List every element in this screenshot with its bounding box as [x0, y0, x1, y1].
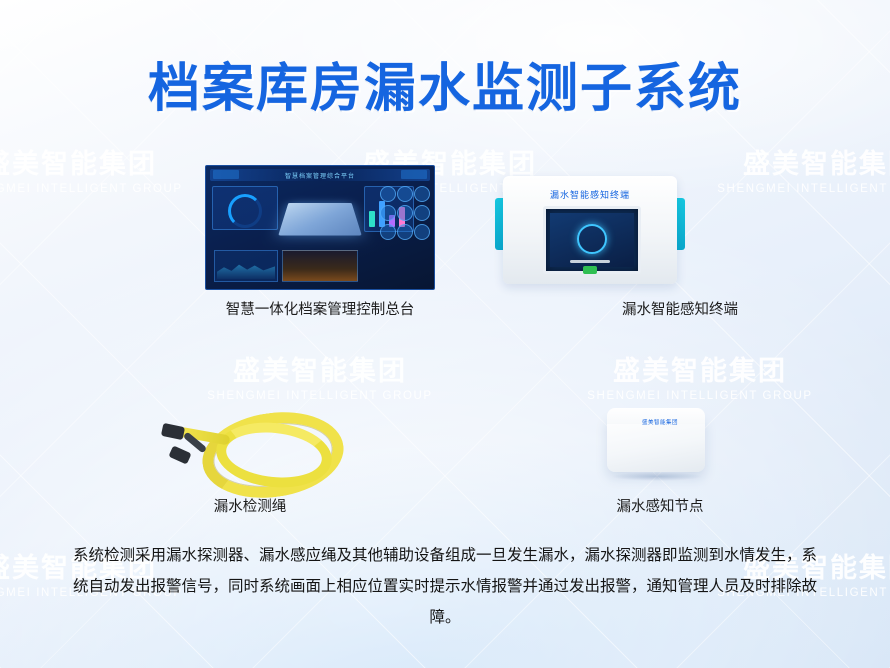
page-title: 档案库房漏水监测子系统	[0, 46, 890, 121]
watermark-cn: 盛美智能集团	[190, 355, 450, 389]
caption-cable: 漏水检测绳	[120, 495, 380, 516]
console-bar	[369, 211, 375, 227]
terminal-display-inner	[550, 213, 634, 267]
console-icon	[380, 186, 396, 202]
terminal-body: 漏水智能感知终端	[503, 176, 677, 284]
node-shadow	[611, 472, 703, 481]
cable-connector-bottom	[168, 445, 191, 464]
terminal-power-button	[583, 266, 597, 274]
console-camera-view	[282, 250, 358, 282]
cable-image	[160, 405, 340, 485]
terminal-status-ring-icon	[577, 224, 607, 254]
terminal-image: 漏水智能感知终端	[495, 162, 685, 292]
watermark-en: SHENGMEI INTELLIGENT GROUP	[700, 182, 890, 196]
console-trend-chart	[214, 250, 278, 282]
watermark-en: SHENGMEI INTELLIGENT GROUP	[0, 182, 200, 196]
console-icon	[397, 224, 413, 240]
console-icon	[414, 205, 430, 221]
caption-node: 漏水感知节点	[540, 495, 780, 516]
watermark: 盛美智能集团 SHENGMEI INTELLIGENT GROUP	[700, 148, 890, 196]
watermark: 盛美智能集团 SHENGMEI INTELLIGENT GROUP	[570, 355, 830, 403]
node-image: 盛美智能集团	[595, 398, 725, 488]
console-badge-left	[213, 170, 239, 179]
console-icon	[414, 186, 430, 202]
watermark: 盛美智能集团 SHENGMEI INTELLIGENT GROUP	[190, 355, 450, 403]
console-icon-grid	[380, 186, 428, 240]
console-icon	[397, 205, 413, 221]
console-topbar: 智慧档案管理综合平台	[210, 169, 430, 181]
watermark-en: SHENGMEI INTELLIGENT GROUP	[190, 389, 450, 403]
terminal-display	[543, 206, 641, 274]
watermark-cn: 盛美智能集团	[700, 148, 890, 182]
watermark-cn: 盛美智能集团	[0, 148, 200, 182]
cable-connector-top	[161, 423, 185, 440]
console-icon	[414, 224, 430, 240]
caption-terminal: 漏水智能感知终端	[430, 298, 890, 319]
node-logo-text: 盛美智能集团	[642, 418, 678, 426]
console-screen: 智慧档案管理综合平台	[205, 165, 435, 290]
watermark: 盛美智能集团 SHENGMEI INTELLIGENT GROUP	[0, 148, 200, 196]
console-image: 智慧档案管理综合平台	[205, 165, 435, 290]
console-3d-room	[278, 203, 362, 236]
terminal-device-label: 漏水智能感知终端	[503, 188, 677, 201]
console-icon	[380, 224, 396, 240]
console-badge-right	[401, 170, 427, 179]
description-text: 系统检测采用漏水探测器、漏水感应绳及其他辅助设备组成一旦发生漏水，漏水探测器即监…	[70, 540, 820, 633]
console-gauge	[228, 194, 262, 228]
terminal-vent-slot	[570, 260, 610, 263]
console-icon	[380, 205, 396, 221]
console-icon	[397, 186, 413, 202]
watermark-cn: 盛美智能集团	[570, 355, 830, 389]
console-screen-title: 智慧档案管理综合平台	[285, 171, 355, 180]
poster-page: 盛美智能集团 SHENGMEI INTELLIGENT GROUP 盛美智能集团…	[0, 0, 890, 668]
